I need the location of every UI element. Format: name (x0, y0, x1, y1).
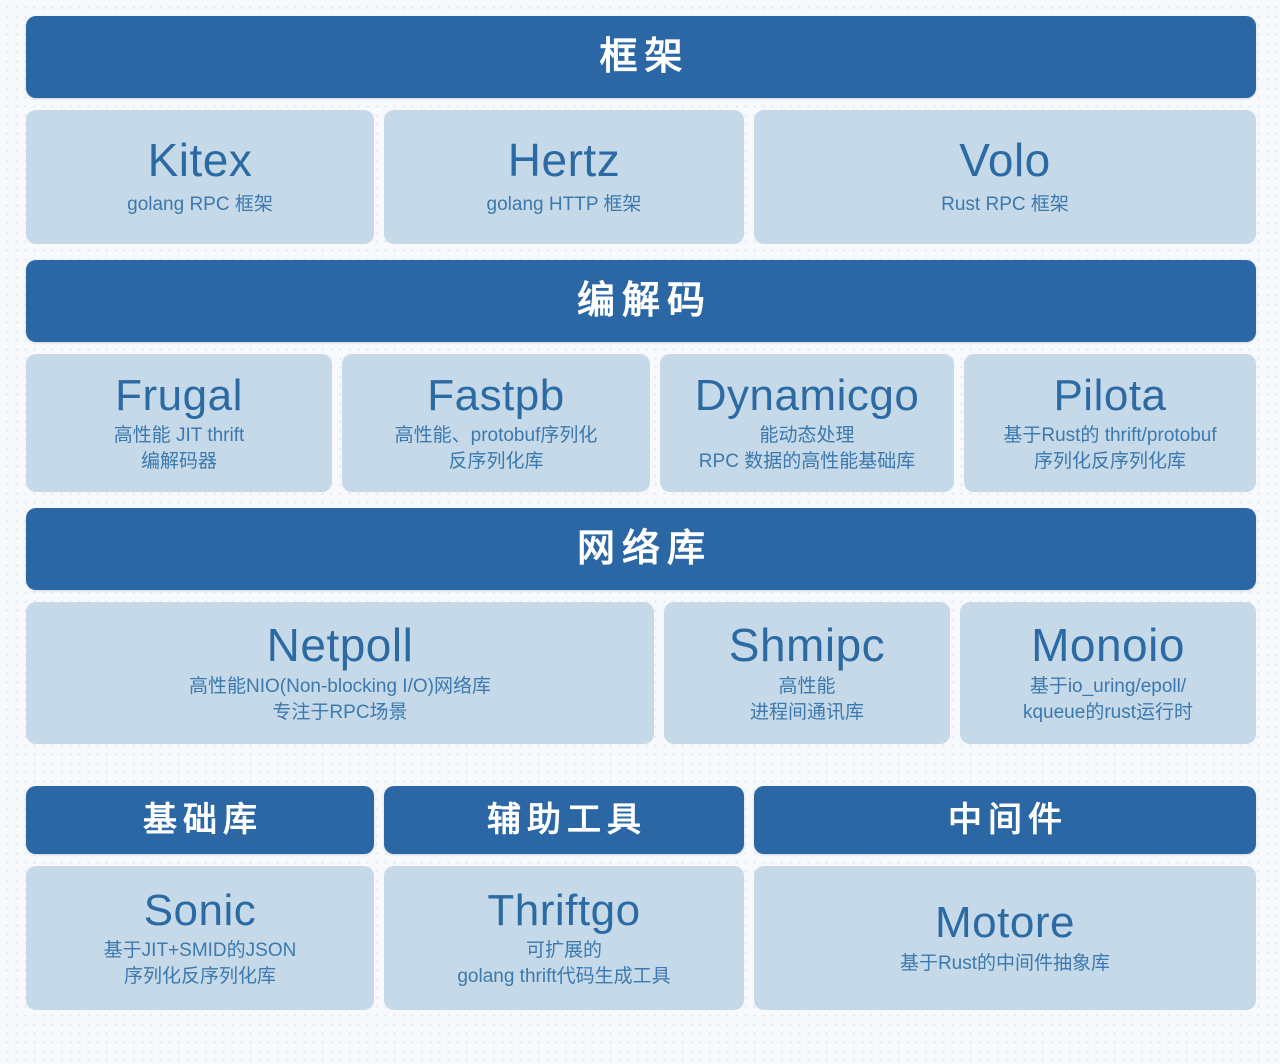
card-kitex[interactable]: Kitex golang RPC 框架 (26, 110, 374, 244)
section-header-row-bottom: 基础库 辅助工具 中间件 (26, 786, 1256, 854)
section-header-frameworks-label: 框架 (592, 38, 689, 76)
card-netpoll-title: Netpoll (267, 621, 414, 671)
card-frugal[interactable]: Frugal 高性能 JIT thrift 编解码器 (26, 354, 332, 492)
card-row-network: Netpoll 高性能NIO(Non-blocking I/O)网络库 专注于R… (26, 602, 1256, 744)
card-row-codec: Frugal 高性能 JIT thrift 编解码器 Fastpb 高性能、pr… (26, 354, 1256, 492)
section-header-codec-label: 编解码 (570, 282, 712, 320)
card-sonic[interactable]: Sonic 基于JIT+SMID的JSON 序列化反序列化库 (26, 866, 374, 1010)
card-motore-title: Motore (935, 899, 1075, 947)
card-pilota[interactable]: Pilota 基于Rust的 thrift/protobuf 序列化反序列化库 (964, 354, 1256, 492)
card-volo-title: Volo (959, 136, 1051, 186)
card-kitex-desc: golang RPC 框架 (127, 192, 273, 218)
card-pilota-desc: 基于Rust的 thrift/protobuf 序列化反序列化库 (1003, 423, 1216, 474)
card-shmipc[interactable]: Shmipc 高性能 进程间通讯库 (664, 602, 950, 744)
card-volo-desc: Rust RPC 框架 (941, 192, 1069, 218)
card-monoio-title: Monoio (1031, 621, 1185, 671)
card-frugal-title: Frugal (115, 372, 243, 420)
card-frugal-desc: 高性能 JIT thrift 编解码器 (114, 423, 245, 474)
card-pilota-title: Pilota (1053, 372, 1166, 420)
card-dynamicgo-desc: 能动态处理 RPC 数据的高性能基础库 (699, 423, 915, 474)
section-header-tools: 辅助工具 (384, 786, 744, 854)
spacer (26, 492, 1256, 508)
section-header-base-lib: 基础库 (26, 786, 374, 854)
spacer (26, 342, 1256, 354)
card-sonic-desc: 基于JIT+SMID的JSON 序列化反序列化库 (104, 938, 297, 989)
card-hertz[interactable]: Hertz golang HTTP 框架 (384, 110, 744, 244)
card-hertz-title: Hertz (508, 136, 620, 186)
card-thriftgo-title: Thriftgo (487, 887, 640, 935)
card-kitex-title: Kitex (148, 136, 253, 186)
section-header-network-label: 网络库 (570, 530, 712, 568)
spacer (26, 98, 1256, 110)
card-netpoll-desc: 高性能NIO(Non-blocking I/O)网络库 专注于RPC场景 (189, 674, 491, 725)
spacer (26, 590, 1256, 602)
card-dynamicgo-title: Dynamicgo (695, 372, 920, 420)
card-fastpb-title: Fastpb (427, 372, 565, 420)
card-motore-desc: 基于Rust的中间件抽象库 (900, 951, 1110, 977)
spacer (26, 744, 1256, 786)
section-header-middleware-label: 中间件 (942, 803, 1068, 837)
card-monoio-desc: 基于io_uring/epoll/ kqueue的rust运行时 (1023, 674, 1193, 725)
card-hertz-desc: golang HTTP 框架 (487, 192, 642, 218)
card-thriftgo[interactable]: Thriftgo 可扩展的 golang thrift代码生成工具 (384, 866, 744, 1010)
section-header-network: 网络库 (26, 508, 1256, 590)
section-header-base-lib-label: 基础库 (137, 803, 263, 837)
card-volo[interactable]: Volo Rust RPC 框架 (754, 110, 1256, 244)
card-monoio[interactable]: Monoio 基于io_uring/epoll/ kqueue的rust运行时 (960, 602, 1256, 744)
card-shmipc-desc: 高性能 进程间通讯库 (750, 674, 864, 725)
card-thriftgo-desc: 可扩展的 golang thrift代码生成工具 (457, 938, 670, 989)
spacer (26, 854, 1256, 866)
card-sonic-title: Sonic (144, 887, 257, 935)
card-shmipc-title: Shmipc (729, 621, 885, 671)
card-motore[interactable]: Motore 基于Rust的中间件抽象库 (754, 866, 1256, 1010)
spacer (26, 244, 1256, 260)
card-fastpb-desc: 高性能、protobuf序列化 反序列化库 (395, 423, 598, 474)
card-row-bottom: Sonic 基于JIT+SMID的JSON 序列化反序列化库 Thriftgo … (26, 866, 1256, 1010)
card-fastpb[interactable]: Fastpb 高性能、protobuf序列化 反序列化库 (342, 354, 650, 492)
architecture-board: 框架 Kitex golang RPC 框架 Hertz golang HTTP… (0, 0, 1280, 1064)
section-header-middleware: 中间件 (754, 786, 1256, 854)
card-netpoll[interactable]: Netpoll 高性能NIO(Non-blocking I/O)网络库 专注于R… (26, 602, 654, 744)
section-header-frameworks: 框架 (26, 16, 1256, 98)
card-dynamicgo[interactable]: Dynamicgo 能动态处理 RPC 数据的高性能基础库 (660, 354, 954, 492)
card-row-frameworks: Kitex golang RPC 框架 Hertz golang HTTP 框架… (26, 110, 1256, 244)
section-header-codec: 编解码 (26, 260, 1256, 342)
section-header-tools-label: 辅助工具 (481, 803, 647, 837)
